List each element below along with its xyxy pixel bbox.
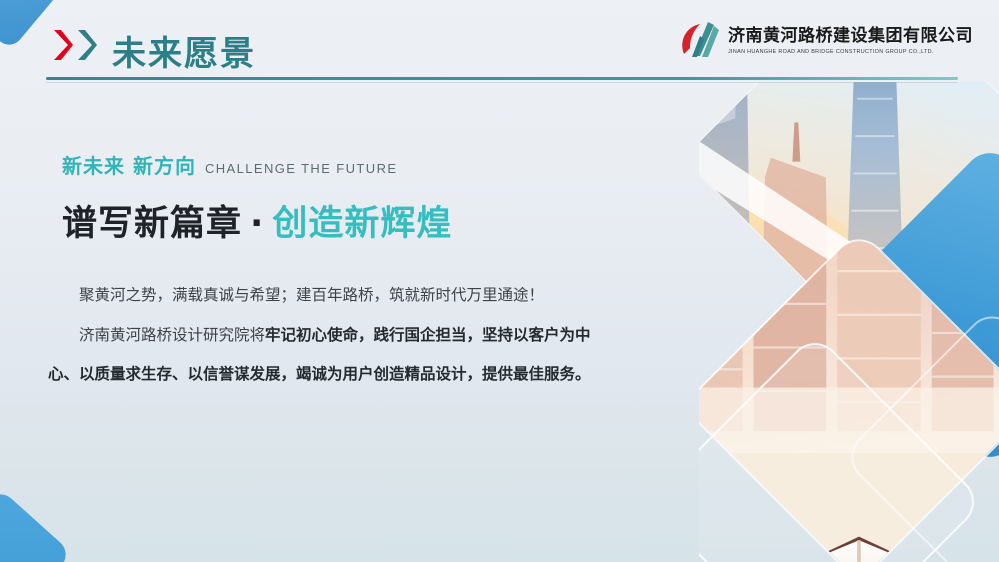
headline: 谱写新篇章·创造新辉煌 — [0, 195, 660, 246]
kicker-chinese: 新未来 新方向 — [62, 150, 196, 179]
paragraph-1: 聚黄河之势，满载真诚与希望；建百年路桥，筑就新时代万里通途！ — [48, 276, 608, 316]
paragraph-2-lead: 济南黄河路桥设计研究院将 — [79, 326, 265, 344]
company-logo: 济南黄河路桥建设集团有限公司 JINAN HUANGHE ROAD AND BR… — [678, 20, 973, 62]
headline-part-2: 创造新辉煌 — [272, 204, 452, 244]
chevron-right-teal-icon — [76, 28, 98, 62]
chevron-right-red-icon — [52, 28, 74, 62]
corner-decoration-bottom-left — [0, 488, 72, 562]
company-name-cn: 济南黄河路桥建设集团有限公司 — [728, 27, 973, 47]
slide-header: 未来愿景 济南黄河路桥建设集团有限公司 JINAN HUANGHE ROAD A… — [0, 0, 999, 90]
company-name-en: JINAN HUANGHE ROAD AND BRIDGE CONSTRUCTI… — [728, 49, 973, 55]
kicker-line: 新未来 新方向 CHALLENGE THE FUTURE — [0, 150, 660, 179]
slide-root: 未来愿景 济南黄河路桥建设集团有限公司 JINAN HUANGHE ROAD A… — [0, 0, 999, 562]
company-logo-text: 济南黄河路桥建设集团有限公司 JINAN HUANGHE ROAD AND BR… — [728, 27, 973, 56]
body-copy: 聚黄河之势，满载真诚与希望；建百年路桥，筑就新时代万里通途！ 济南黄河路桥设计研… — [0, 276, 608, 395]
headline-separator: · — [250, 204, 264, 244]
chevron-group — [52, 28, 100, 62]
paragraph-2: 济南黄河路桥设计研究院将牢记初心使命，践行国企担当，坚持以客户为中心、以质量求生… — [48, 316, 608, 395]
artwork-panel — [699, 82, 999, 562]
header-divider-secondary — [46, 82, 958, 83]
kicker-english: CHALLENGE THE FUTURE — [205, 161, 397, 176]
main-content: 新未来 新方向 CHALLENGE THE FUTURE 谱写新篇章·创造新辉煌… — [0, 150, 660, 395]
header-divider — [46, 77, 958, 80]
headline-part-1: 谱写新篇章 — [62, 204, 242, 244]
company-logo-mark-icon — [678, 20, 722, 62]
page-title: 未来愿景 — [112, 26, 256, 75]
